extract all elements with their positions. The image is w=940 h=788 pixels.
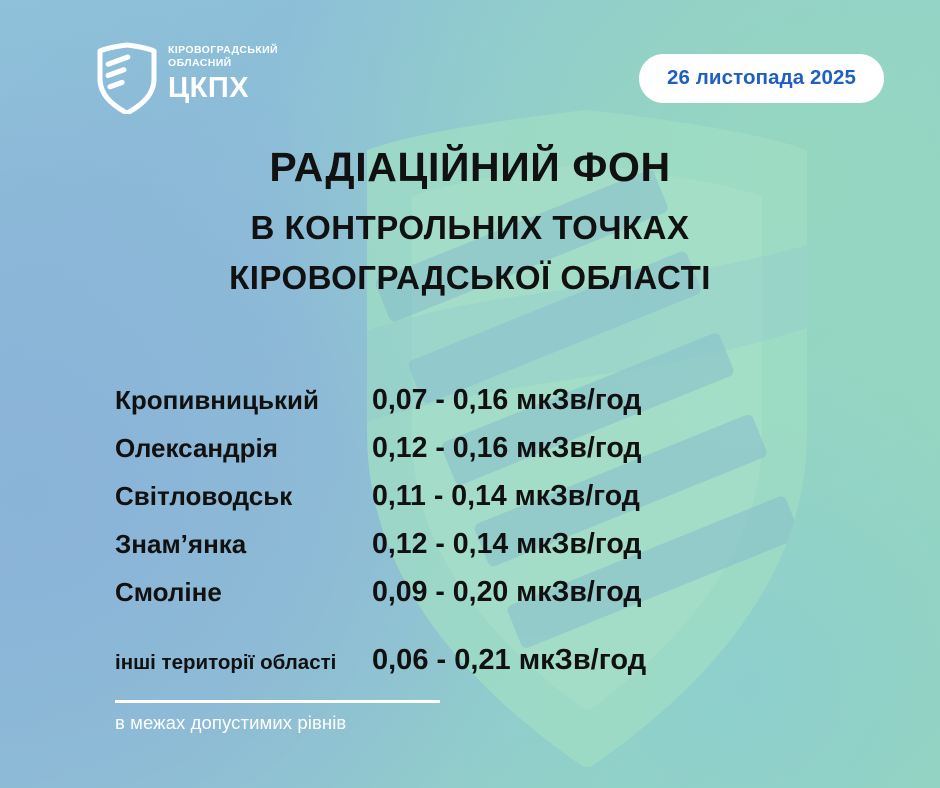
footer-note: в межах допустимих рівнів	[115, 700, 455, 734]
city-name: Смоліне	[0, 577, 370, 608]
measurements-table: Кропивницький 0,07 - 0,16 мкЗв/год Олекс…	[0, 384, 940, 690]
shield-logo-icon	[96, 42, 158, 114]
city-name: Кропивницький	[0, 385, 370, 416]
page-subtitle-line-2: КІРОВОГРАДСЬКОЇ ОБЛАСТІ	[0, 256, 940, 300]
radiation-value: 0,12 - 0,14 мкЗв/год	[370, 528, 641, 561]
table-row: Знам’янка 0,12 - 0,14 мкЗв/год	[0, 528, 940, 576]
table-row: Світловодськ 0,11 - 0,14 мкЗв/год	[0, 480, 940, 528]
date-badge: 26 листопада 2025	[639, 54, 884, 103]
radiation-value: 0,12 - 0,16 мкЗв/год	[370, 432, 641, 465]
other-territories-label: інші території області	[0, 651, 370, 675]
logo-acronym: ЦКПХ	[168, 72, 278, 104]
page-subtitle-line-1: В КОНТРОЛЬНИХ ТОЧКАХ	[0, 206, 940, 250]
logo-text-block: КІРОВОГРАДСЬКИЙ ОБЛАСНИЙ ЦКПХ	[168, 42, 278, 104]
radiation-value: 0,11 - 0,14 мкЗв/год	[370, 480, 640, 513]
radiation-value: 0,07 - 0,16 мкЗв/год	[370, 384, 641, 417]
logo-line-2: ОБЛАСНИЙ	[168, 57, 278, 70]
other-territories-value: 0,06 - 0,21 мкЗв/год	[370, 644, 646, 677]
table-row: Олександрія 0,12 - 0,16 мкЗв/год	[0, 432, 940, 480]
table-row-other-territories: інші території області 0,06 - 0,21 мкЗв/…	[0, 644, 940, 690]
radiation-value: 0,09 - 0,20 мкЗв/год	[370, 576, 641, 609]
within-limits-note: в межах допустимих рівнів	[115, 712, 455, 734]
logo-line-1: КІРОВОГРАДСЬКИЙ	[168, 44, 278, 57]
organization-logo: КІРОВОГРАДСЬКИЙ ОБЛАСНИЙ ЦКПХ	[96, 42, 278, 114]
city-name: Олександрія	[0, 433, 370, 464]
table-row: Смоліне 0,09 - 0,20 мкЗв/год	[0, 576, 940, 624]
city-name: Знам’янка	[0, 529, 370, 560]
table-row: Кропивницький 0,07 - 0,16 мкЗв/год	[0, 384, 940, 432]
title-block: РАДІАЦІЙНИЙ ФОН В КОНТРОЛЬНИХ ТОЧКАХ КІР…	[0, 142, 940, 300]
city-name: Світловодськ	[0, 481, 370, 512]
header: КІРОВОГРАДСЬКИЙ ОБЛАСНИЙ ЦКПХ 26 листопа…	[0, 0, 940, 130]
poster-canvas: КІРОВОГРАДСЬКИЙ ОБЛАСНИЙ ЦКПХ 26 листопа…	[0, 0, 940, 788]
page-title: РАДІАЦІЙНИЙ ФОН	[0, 142, 940, 192]
divider-rule	[115, 700, 440, 703]
